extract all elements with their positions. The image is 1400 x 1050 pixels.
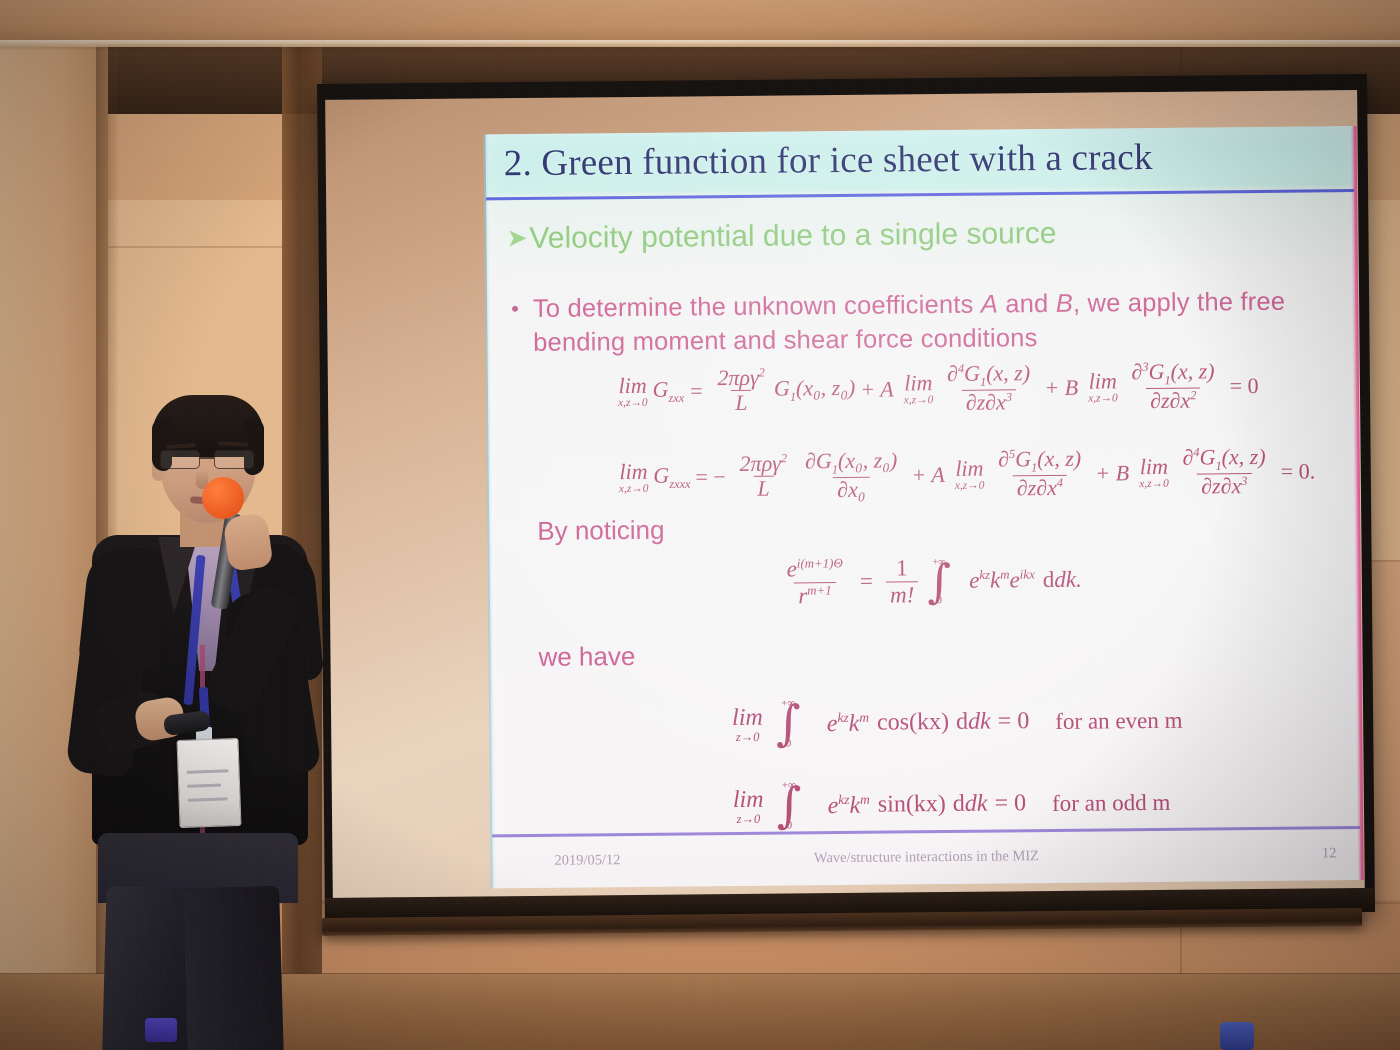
eq1-limit-3: lim x,z→0 — [1088, 370, 1118, 405]
projection-screen: 2. Green function for ice sheet with a c… — [317, 74, 1375, 922]
eq1-limit-lhs: lim x,z→0 — [618, 375, 648, 410]
presentation-photo-scene: 2. Green function for ice sheet with a c… — [0, 0, 1400, 1050]
eq2-fraction-3: ∂4G1(x, z) ∂z∂x3 — [1178, 445, 1270, 500]
microphone-icon — [202, 477, 244, 519]
eq5-result: = 0 — [994, 790, 1026, 817]
eq2-equals: = − — [695, 464, 726, 490]
eq5-trig: sin(kx) — [878, 791, 946, 819]
glasses-bridge — [200, 457, 214, 459]
eq2-limit-3: lim x,z→0 — [1139, 456, 1169, 491]
eq1-limit-2: lim x,z→0 — [904, 372, 934, 407]
eq3-integrand: ekzkmeikx — [969, 567, 1035, 594]
eq1-g1-term: G1(x₀, z₀) — [774, 375, 856, 405]
eq4-integrand: ekzkm — [827, 709, 870, 737]
equation-5: lim z→0 +∞ ∫ 0 ekzkm sin(kx) ddk = 0 for… — [728, 778, 1171, 831]
eq5-integral: +∞ ∫ 0 — [776, 781, 801, 830]
eq1-result: = 0 — [1230, 373, 1259, 399]
glasses-lens-right — [214, 450, 254, 469]
equation-4: lim z→0 +∞ ∫ 0 ekzkm cos(kx) ddk = 0 for… — [727, 696, 1183, 750]
equation-1: lim x,z→0 Gzxx = 2πργ2 L G1(x₀, z₀) + A … — [613, 359, 1259, 419]
variable-b: B — [1056, 290, 1073, 318]
badge-text-line — [188, 797, 228, 801]
chromatic-fringe-right — [1350, 126, 1363, 880]
soffit-edge-highlight — [0, 40, 1400, 47]
eq3-differential: ddk. — [1043, 567, 1082, 593]
eq2-fraction-2: ∂5G1(x, z) ∂z∂x4 — [994, 447, 1086, 502]
eq4-result: = 0 — [998, 708, 1030, 735]
bullet-dot-icon: • — [511, 292, 519, 360]
equation-2: lim x,z→0 Gzxxx = − 2πργ2 L ∂G1(x₀, z₀) … — [614, 444, 1316, 505]
equation-3: ei(m+1)Θ rm+1 = 1 m! +∞ ∫ 0 ekzkmeikx dd… — [778, 554, 1083, 609]
eq1-lhs-function: Gzxx — [652, 377, 684, 407]
slide-subtitle-text: Velocity potential due to a single sourc… — [529, 217, 1056, 255]
eq3-fraction-rhs: 1 m! — [886, 555, 919, 608]
bullet-item: • To determine the unknown coefficients … — [511, 284, 1338, 360]
floor-object-blue-right — [1220, 1022, 1254, 1050]
eq5-differential: ddk — [953, 791, 988, 818]
footer-date: 2019/05/12 — [554, 852, 620, 870]
glasses-icon — [158, 450, 258, 470]
eq5-integrand: ekzkm — [828, 791, 871, 819]
floor-object-blue — [145, 1018, 177, 1042]
eq1-fraction-3: ∂3G1(x, z) ∂z∂x2 — [1127, 359, 1219, 414]
eq1-fraction-1: 2πργ2 L — [713, 365, 769, 416]
eq2-fraction-1b: ∂G1(x₀, z₀) ∂x₀ — [801, 448, 902, 503]
bullet-text-and: and — [998, 290, 1056, 319]
ceiling-soffit — [0, 0, 1400, 44]
eq4-differential: ddk — [956, 709, 991, 736]
label-we-have: we have — [538, 641, 635, 673]
eq2-lhs-function: Gzxxx — [653, 463, 690, 493]
eq3-integral: +∞ ∫ 0 — [927, 558, 951, 605]
slide-title: 2. Green function for ice sheet with a c… — [504, 134, 1344, 185]
presenter — [40, 395, 340, 1050]
eq5-condition: for an odd m — [1052, 789, 1171, 817]
eq2-limit-lhs: lim x,z→0 — [619, 461, 649, 496]
footer-title: Wave/structure interactions in the MIZ — [492, 845, 1360, 870]
projected-slide: 2. Green function for ice sheet with a c… — [485, 126, 1360, 888]
arrow-bullet-icon: ➤ — [506, 223, 527, 253]
slide-subtitle: ➤Velocity potential due to a single sour… — [506, 217, 1056, 256]
eq2-result: = 0. — [1281, 458, 1316, 484]
eq4-limit: lim z→0 — [732, 706, 763, 744]
eq2-fraction-1: 2πργ2 L — [736, 451, 792, 502]
badge-text-line — [187, 784, 221, 788]
eq4-trig: cos(kx) — [877, 709, 949, 737]
eq2-plus-a: + A — [911, 462, 945, 488]
eq1-equals: = — [690, 378, 703, 404]
projection-screen-surface: 2. Green function for ice sheet with a c… — [325, 90, 1365, 900]
eq2-limit-2: lim x,z→0 — [955, 457, 985, 492]
eq1-fraction-2: ∂4G1(x, z) ∂z∂x3 — [943, 361, 1035, 416]
presenter-hand-right — [222, 512, 273, 572]
slide-footer: Wave/structure interactions in the MIZ 2… — [492, 838, 1360, 876]
chromatic-fringe-left — [483, 134, 495, 888]
bullet-text-part1: To determine the unknown coefficients — [533, 291, 981, 323]
badge-text-line — [187, 769, 229, 773]
eq3-fraction-lhs: ei(m+1)Θ rm+1 — [783, 556, 848, 609]
eq2-plus-b: + B — [1095, 460, 1129, 486]
bullet-text: To determine the unknown coefficients A … — [533, 284, 1338, 360]
eq1-plus-a: + A — [860, 376, 894, 402]
eq3-equals: = — [860, 569, 873, 595]
footer-page-number: 12 — [1322, 845, 1337, 862]
title-underline-rule — [486, 189, 1354, 200]
presenter-leg-right — [183, 886, 293, 1050]
glasses-lens-left — [160, 450, 200, 469]
eq1-plus-b: + B — [1044, 375, 1078, 401]
eq4-condition: for an even m — [1055, 707, 1183, 735]
variable-a: A — [981, 290, 998, 318]
eq4-integral: +∞ ∫ 0 — [776, 699, 801, 748]
eq5-limit: lim z→0 — [733, 788, 764, 826]
label-by-noticing: By noticing — [537, 515, 664, 547]
conference-badge — [176, 738, 241, 828]
